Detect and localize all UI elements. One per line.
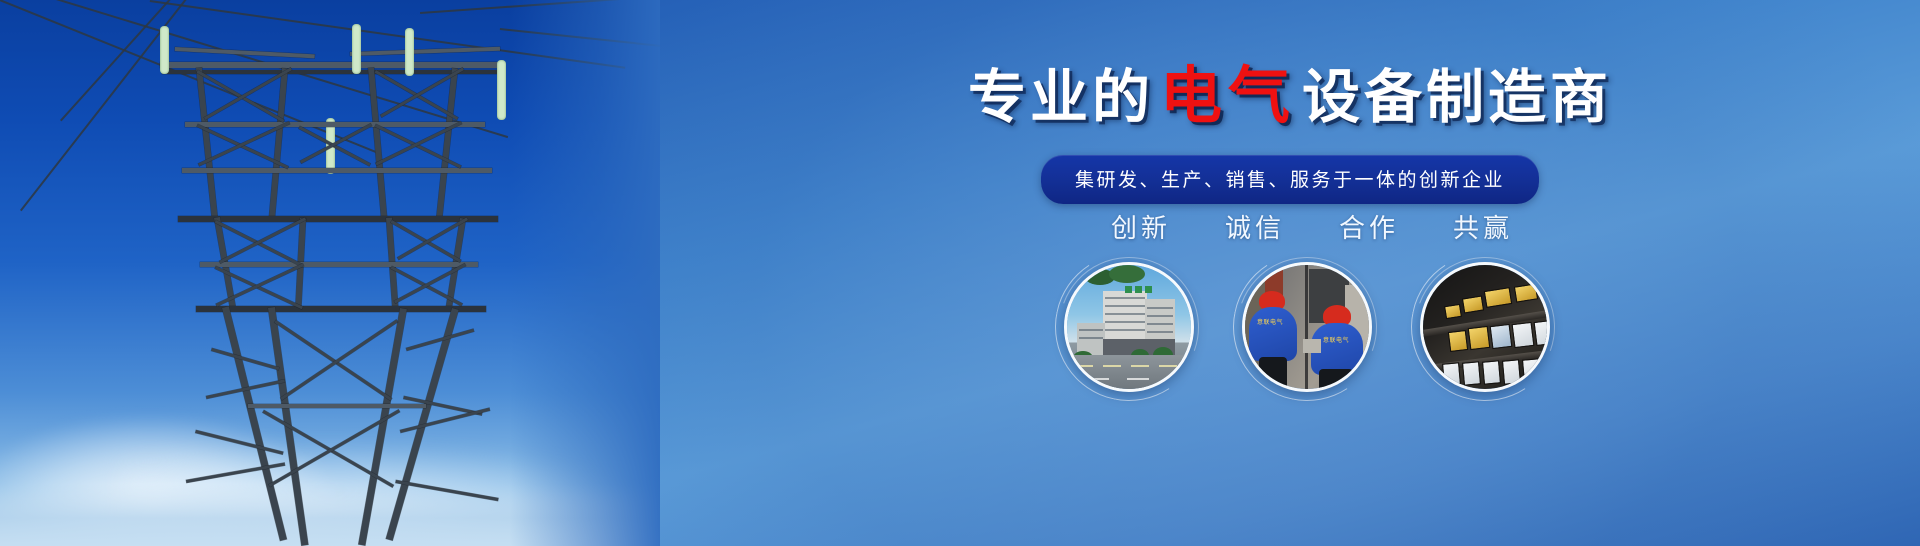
circle-photo-workers: 意联电气 意联电气 — [1242, 262, 1372, 392]
value-word-cooperation: 合作 — [1339, 208, 1399, 245]
circle-photo-certificates — [1420, 262, 1550, 392]
circle-frame: 意联电气 意联电气 — [1242, 262, 1372, 392]
headline-part-1: 专业的 — [968, 69, 1154, 127]
hero-banner: 专业的电气设备制造商 集研发、生产、销售、服务于一体的创新企业 创新 诚信 合作… — [0, 0, 1920, 546]
headline-accent: 电气 — [1154, 66, 1302, 128]
transmission-tower-photo — [0, 0, 660, 546]
certificate-wall-scene — [1423, 265, 1547, 389]
circle-frame — [1064, 262, 1194, 392]
tagline-pill: 集研发、生产、销售、服务于一体的创新企业 — [1041, 155, 1539, 204]
circle-frame — [1420, 262, 1550, 392]
office-building-scene — [1067, 265, 1191, 389]
value-word-integrity: 诚信 — [1225, 208, 1285, 245]
tagline-text: 集研发、生产、销售、服务于一体的创新企业 — [1075, 170, 1505, 191]
value-word-winwin: 共赢 — [1453, 208, 1513, 245]
pylon-structure — [0, 0, 660, 546]
page-title: 专业的电气设备制造商 — [660, 66, 1920, 128]
headline-part-3: 设备制造商 — [1302, 69, 1612, 127]
workers-scene: 意联电气 意联电气 — [1245, 265, 1369, 389]
banner-content: 专业的电气设备制造商 集研发、生产、销售、服务于一体的创新企业 创新 诚信 合作… — [660, 0, 1920, 546]
value-word-innovation: 创新 — [1111, 208, 1171, 245]
circle-photo-office — [1064, 262, 1194, 392]
value-words: 创新 诚信 合作 共赢 — [660, 208, 1920, 245]
photo-circles: 意联电气 意联电气 — [660, 262, 1920, 392]
